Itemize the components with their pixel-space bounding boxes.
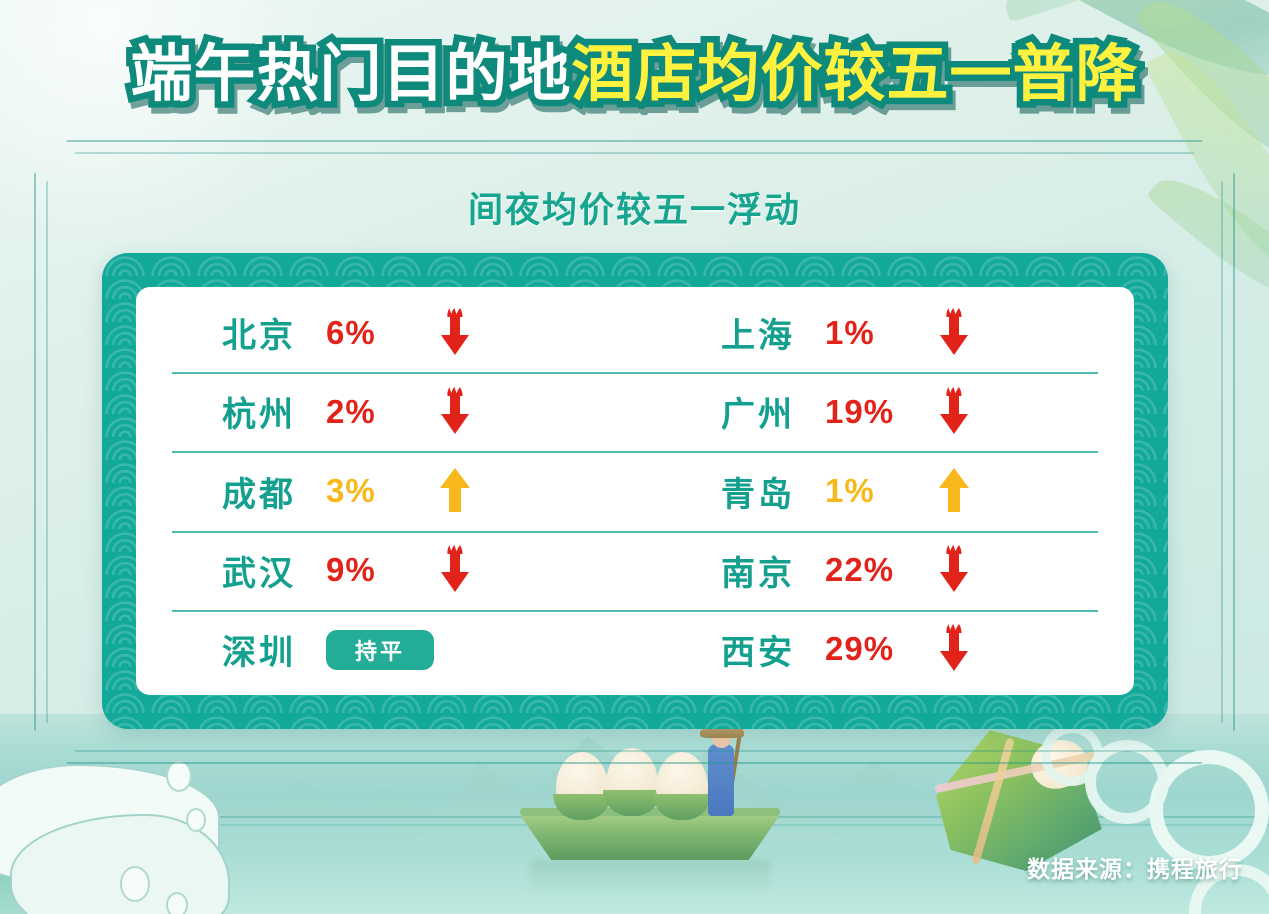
chart-subtitle: 间夜均价较五一浮动 [0, 182, 1269, 233]
data-source-label: 数据来源：携程旅行 [1027, 850, 1243, 884]
zongzi-icon [656, 752, 708, 814]
infographic-stage: 端午热门目的地酒店均价较五一普降 间夜均价较五一浮动 北京 6% [0, 0, 1269, 914]
boatman-figure [708, 744, 734, 816]
value-label: 9% [326, 551, 438, 589]
value-label: 2% [326, 393, 438, 431]
city-label: 广州 [635, 387, 825, 436]
water-line [0, 824, 1269, 826]
status-badge: 持平 [326, 630, 434, 670]
value-label: 1% [825, 314, 937, 352]
value-badge-wrapper: 持平 [326, 629, 434, 670]
table-cell: 武汉 9% [136, 531, 635, 610]
bottom-scenery [0, 714, 1269, 914]
arrow-down-flame-icon [937, 387, 1007, 437]
mountain-right [720, 748, 1100, 840]
arrow-down-flame-icon [937, 624, 1007, 674]
water-surface [0, 714, 1269, 914]
arrow-down-flame-icon [438, 387, 508, 437]
table-cell: 青岛 1% [635, 451, 1134, 530]
value-label: 29% [825, 630, 937, 668]
table-cell: 北京 6% [136, 293, 635, 372]
table-cell: 南京 22% [635, 531, 1134, 610]
city-label: 深圳 [136, 625, 326, 674]
mountain-mid [420, 722, 840, 840]
city-label: 成都 [136, 467, 326, 516]
arrow-down-flame-icon [438, 308, 508, 358]
title-segment-white: 端午热门目的地 [130, 40, 571, 109]
title-segment-yellow: 酒店均价较五一普降 [572, 40, 1139, 109]
city-label: 南京 [635, 546, 825, 595]
table-cell: 杭州 2% [136, 372, 635, 451]
table-cell: 上海 1% [635, 293, 1134, 372]
city-label: 西安 [635, 625, 825, 674]
table-cell: 西安 29% [635, 610, 1134, 689]
zongzi-icon [606, 748, 658, 810]
zongzi-icon [556, 752, 608, 814]
city-label: 杭州 [136, 387, 326, 436]
table-row: 成都 3% 青岛 1% [136, 451, 1134, 530]
table-cell: 广州 19% [635, 372, 1134, 451]
data-card: 北京 6% 上海 1% [102, 253, 1168, 729]
data-table: 北京 6% 上海 1% [136, 287, 1134, 695]
boat-illustration [520, 720, 790, 860]
page-title: 端午热门目的地酒店均价较五一普降 [0, 42, 1269, 109]
city-label: 青岛 [635, 467, 825, 516]
arrow-down-flame-icon [937, 308, 1007, 358]
arrow-up-icon [937, 466, 1007, 516]
table-row: 深圳 持平 西安 29% [136, 610, 1134, 689]
arrow-up-icon [438, 466, 508, 516]
table-row: 杭州 2% 广州 19% [136, 372, 1134, 451]
city-label: 上海 [635, 308, 825, 357]
water-line [0, 816, 1269, 818]
boat-hull [520, 812, 780, 860]
mountain-far [180, 770, 480, 840]
arrow-down-flame-icon [438, 545, 508, 595]
city-label: 武汉 [136, 546, 326, 595]
right-wave-decoration [959, 714, 1269, 914]
table-row: 北京 6% 上海 1% [136, 293, 1134, 372]
value-label: 19% [825, 393, 937, 431]
value-label: 3% [326, 472, 438, 510]
table-cell: 深圳 持平 [136, 610, 635, 689]
left-wave-decoration [0, 714, 330, 914]
table-row: 武汉 9% 南京 22% [136, 531, 1134, 610]
table-cell: 成都 3% [136, 451, 635, 530]
arrow-down-flame-icon [937, 545, 1007, 595]
value-label: 1% [825, 472, 937, 510]
value-label: 6% [326, 314, 438, 352]
city-label: 北京 [136, 308, 326, 357]
value-label: 22% [825, 551, 937, 589]
